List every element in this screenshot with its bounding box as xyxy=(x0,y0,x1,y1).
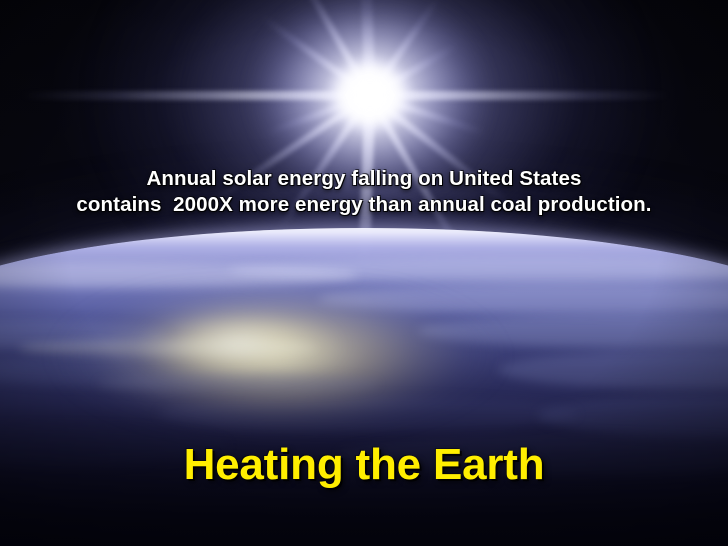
cloud-band xyxy=(498,350,728,390)
caption-line-2: contains 2000X more energy than annual c… xyxy=(6,192,722,218)
slide-title: Heating the Earth xyxy=(0,440,728,490)
earth-limb-rim xyxy=(0,228,728,244)
caption-line-1: Annual solar energy falling on United St… xyxy=(6,166,722,192)
sun-core xyxy=(326,55,414,135)
cloud-band xyxy=(98,374,378,394)
slide-caption: Annual solar energy falling on United St… xyxy=(0,166,728,218)
earth-horizon xyxy=(0,228,728,546)
cloud-band xyxy=(18,340,318,356)
presentation-slide: Annual solar energy falling on United St… xyxy=(0,0,728,546)
